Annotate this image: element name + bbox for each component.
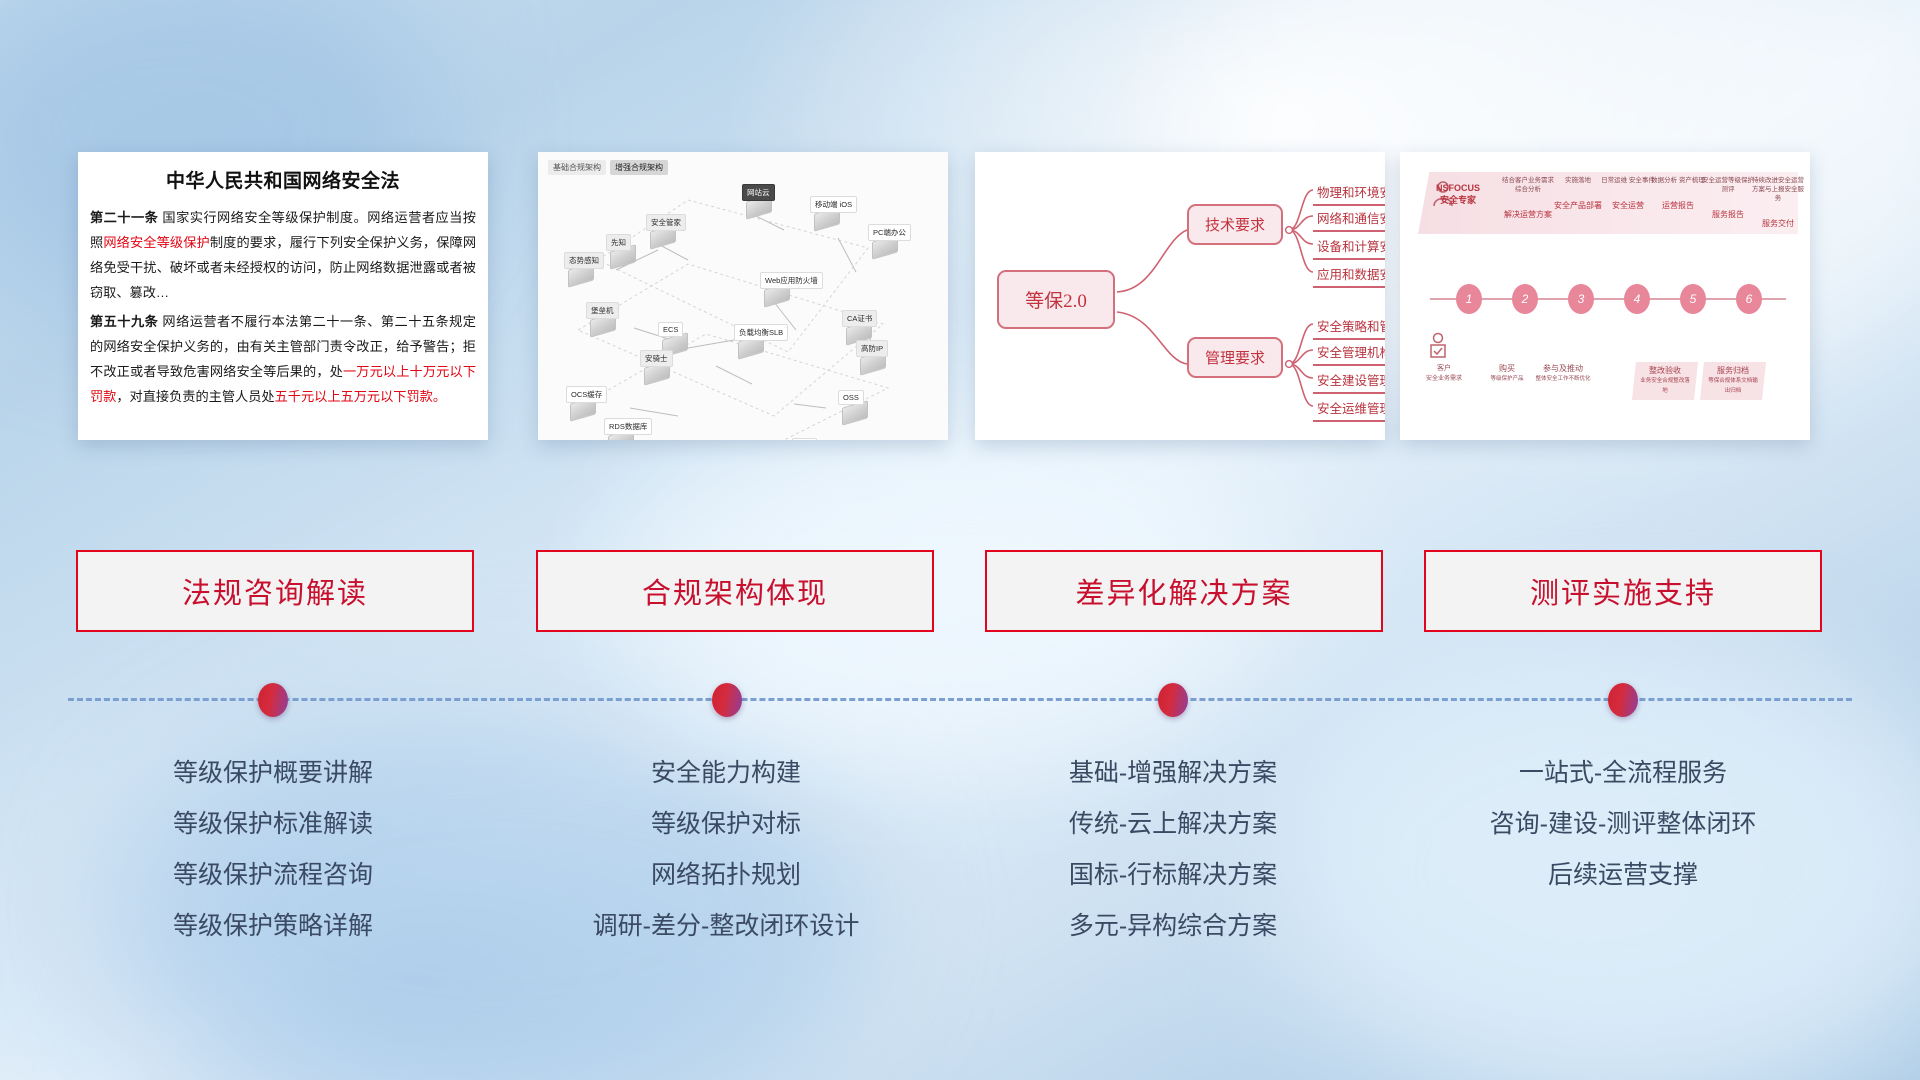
pillar-heading-1[interactable]: 法规咨询解读 [76,550,474,632]
pillar-list-item: 多元-异构综合方案 [963,901,1383,952]
pillar-list-2: 安全能力构建等级保护对标网络拓扑规划调研-差分-整改闭环设计 [516,748,936,952]
pillar-heading-3-label: 差异化解决方案 [1075,570,1292,612]
pillar-list-item: 调研-差分-整改闭环设计 [516,901,936,952]
timeline-marker-1[interactable] [258,683,288,717]
pillar-list-item: 一站式-全流程服务 [1413,748,1833,799]
pillar-list-item: 后续运营支撑 [1413,850,1833,901]
timeline-marker-2[interactable] [712,683,742,717]
pillar-heading-1-label: 法规咨询解读 [182,570,368,612]
pillar-list-item: 传统-云上解决方案 [963,799,1383,850]
pillar-list-item: 等级保护策略详解 [63,901,483,952]
pillar-heading-3[interactable]: 差异化解决方案 [985,550,1383,632]
pillar-heading-2[interactable]: 合规架构体现 [536,550,934,632]
pillar-list-item: 咨询-建设-测评整体闭环 [1413,799,1833,850]
timeline-marker-4[interactable] [1608,683,1638,717]
pillar-heading-4[interactable]: 测评实施支持 [1424,550,1822,632]
pillar-list-item: 等级保护标准解读 [63,799,483,850]
pillar-list-item: 等级保护概要讲解 [63,748,483,799]
pillar-list-item: 网络拓扑规划 [516,850,936,901]
pillar-list-item: 等级保护流程咨询 [63,850,483,901]
timeline-dashed-line [68,698,1852,701]
pillar-list-item: 安全能力构建 [516,748,936,799]
pillar-list-3: 基础-增强解决方案传统-云上解决方案国标-行标解决方案多元-异构综合方案 [963,748,1383,952]
pillar-list-item: 国标-行标解决方案 [963,850,1383,901]
pillar-list-item: 基础-增强解决方案 [963,748,1383,799]
pillar-list-4: 一站式-全流程服务咨询-建设-测评整体闭环后续运营支撑 [1413,748,1833,901]
pillar-heading-2-label: 合规架构体现 [642,570,828,612]
pillar-list-1: 等级保护概要讲解等级保护标准解读等级保护流程咨询等级保护策略详解 [63,748,483,952]
pillar-heading-4-label: 测评实施支持 [1530,570,1716,612]
timeline-marker-3[interactable] [1158,683,1188,717]
pillar-list-item: 等级保护对标 [516,799,936,850]
slide-canvas: 中华人民共和国网络安全法 第二十一条 国家实行网络安全等级保护制度。网络运营者应… [0,0,1920,1080]
